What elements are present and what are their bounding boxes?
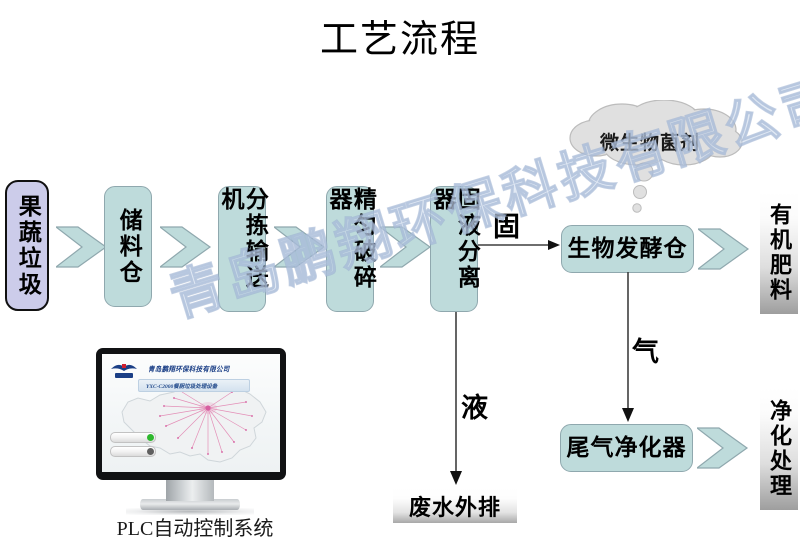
- flow-box-storage-label: 储料仓: [116, 208, 140, 286]
- flow-box-fermenter-label: 生物发酵仓: [568, 237, 688, 261]
- monitor-stand: [166, 479, 214, 501]
- process-flow-diagram: 工艺流程 果蔬垃圾 储料仓 分拣输送机 精匀破碎器 固液分离器 固: [0, 0, 800, 558]
- flow-box-input-label: 果蔬垃圾: [15, 194, 39, 298]
- arrow-chevron-5: [698, 223, 750, 275]
- branch-label-solid: 固: [493, 205, 520, 244]
- arrow-chevron-1: [56, 221, 108, 273]
- branch-label-gas: 气: [632, 330, 659, 369]
- monitor-screen: 青岛鹏翔环保科技有限公司 YXC-C2000餐厨垃圾处理设备: [102, 354, 280, 472]
- screen-company-name: 青岛鹏翔环保科技有限公司: [148, 363, 230, 374]
- arrow-solid-line: [478, 235, 562, 255]
- flow-box-sorting-conveyor: 分拣输送机: [218, 186, 266, 312]
- screen-subtitle: YXC-C2000餐厨垃圾处理设备: [146, 382, 217, 390]
- thought-bubbles: [624, 162, 664, 224]
- output-box-wastewater: 废水外排: [393, 488, 517, 523]
- flow-box-crusher-label: 精匀破碎器: [326, 187, 375, 311]
- flow-box-fermenter: 生物发酵仓: [561, 225, 694, 273]
- flow-box-storage: 储料仓: [104, 186, 152, 307]
- monitor-caption: PLC自动控制系统: [70, 512, 320, 541]
- status-indicator-off: [147, 448, 155, 456]
- flow-box-input: 果蔬垃圾: [5, 180, 49, 311]
- output-box-purified: 净化处理: [760, 388, 798, 510]
- output-box-purified-label: 净化处理: [763, 399, 795, 499]
- output-box-wastewater-label: 废水外排: [409, 490, 501, 522]
- flow-box-crusher: 精匀破碎器: [326, 186, 374, 312]
- screen-status-toggle-1[interactable]: [110, 432, 156, 443]
- page-title: 工艺流程: [0, 8, 800, 63]
- arrow-chevron-2: [160, 221, 212, 273]
- flow-box-separator-label: 固液分离器: [430, 187, 479, 311]
- company-logo-icon: [109, 360, 139, 380]
- flow-box-separator: 固液分离器: [430, 186, 478, 312]
- screen-subtitle-bar: YXC-C2000餐厨垃圾处理设备: [138, 379, 250, 392]
- arrow-chevron-6: [697, 422, 749, 474]
- status-indicator-on: [147, 434, 155, 442]
- flow-box-sorting-conveyor-label: 分拣输送机: [218, 187, 267, 311]
- arrow-chevron-3: [274, 221, 326, 273]
- output-box-fertilizer: 有机肥料: [760, 192, 798, 314]
- flow-box-gas-scrubber: 尾气净化器: [560, 424, 693, 472]
- cloud-label: 微生物菌剂: [600, 128, 700, 155]
- output-box-fertilizer-label: 有机肥料: [763, 203, 795, 303]
- plc-monitor: 青岛鹏翔环保科技有限公司 YXC-C2000餐厨垃圾处理设备: [96, 348, 286, 480]
- flow-box-gas-scrubber-label: 尾气净化器: [567, 436, 687, 460]
- screen-status-toggle-2[interactable]: [110, 446, 156, 457]
- arrow-chevron-4: [380, 221, 432, 273]
- branch-label-liquid: 液: [461, 386, 488, 425]
